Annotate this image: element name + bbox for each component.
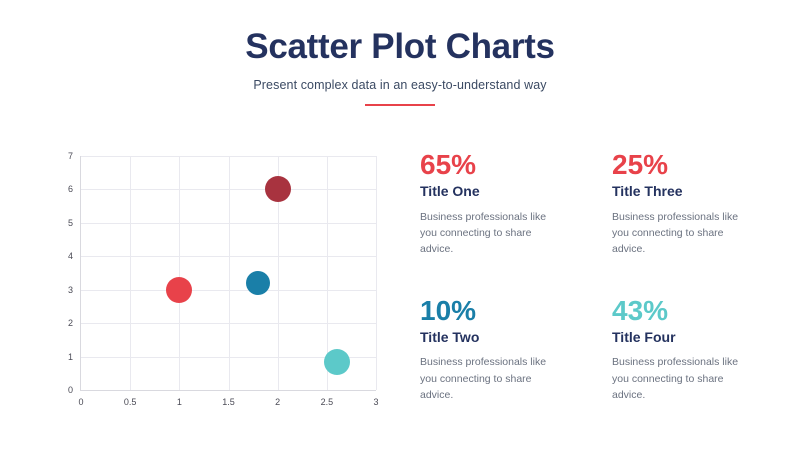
x-axis-tick-label: 1.5 [222,397,235,407]
stat-title: Title Four [612,330,776,345]
stat-percent: 25% [612,150,776,179]
gridline-vertical [376,156,377,390]
stat-item-1: 65% Title One Business professionals lik… [420,150,584,258]
x-axis-tick-label: 1 [177,397,182,407]
gridline-horizontal [81,290,376,291]
x-axis-tick-label: 0 [78,397,83,407]
y-axis-tick-label: 6 [68,184,73,194]
x-axis-tick-label: 2 [275,397,280,407]
scatter-point [324,349,350,375]
gridline-horizontal [81,256,376,257]
gridline-horizontal [81,223,376,224]
gridline-horizontal [81,156,376,157]
scatter-point [265,176,291,202]
stat-title: Title Two [420,330,584,345]
scatter-chart: 00.511.522.5301234567 [30,148,390,418]
x-axis-tick-label: 2.5 [321,397,334,407]
slide-root: Scatter Plot Charts Present complex data… [0,0,800,450]
stat-description: Business professionals like you connecti… [420,209,560,258]
y-axis-tick-label: 1 [68,352,73,362]
stats-grid: 65% Title One Business professionals lik… [420,150,776,403]
y-axis-tick-label: 4 [68,251,73,261]
stat-title: Title Three [612,184,776,199]
gridline-vertical [179,156,180,390]
stat-percent: 65% [420,150,584,179]
scatter-point [166,277,192,303]
x-axis-tick-label: 0.5 [124,397,137,407]
stat-percent: 43% [612,296,776,325]
title-underline [365,104,435,107]
gridline-horizontal [81,189,376,190]
stat-description: Business professionals like you connecti… [612,354,752,403]
x-axis-tick-label: 3 [373,397,378,407]
y-axis-tick-label: 0 [68,385,73,395]
gridline-vertical [229,156,230,390]
stat-item-2: 25% Title Three Business professionals l… [612,150,776,258]
stat-item-3: 10% Title Two Business professionals lik… [420,296,584,404]
stat-description: Business professionals like you connecti… [612,209,752,258]
stat-title: Title One [420,184,584,199]
header: Scatter Plot Charts Present complex data… [0,28,800,106]
stat-item-4: 43% Title Four Business professionals li… [612,296,776,404]
y-axis-tick-label: 7 [68,151,73,161]
stat-description: Business professionals like you connecti… [420,354,560,403]
plot-area: 00.511.522.5301234567 [80,156,376,391]
y-axis-tick-label: 3 [68,285,73,295]
page-title: Scatter Plot Charts [0,28,800,67]
scatter-point [246,271,270,295]
gridline-vertical [130,156,131,390]
page-subtitle: Present complex data in an easy-to-under… [0,78,800,92]
y-axis-tick-label: 5 [68,218,73,228]
stat-percent: 10% [420,296,584,325]
gridline-horizontal [81,323,376,324]
y-axis-tick-label: 2 [68,318,73,328]
